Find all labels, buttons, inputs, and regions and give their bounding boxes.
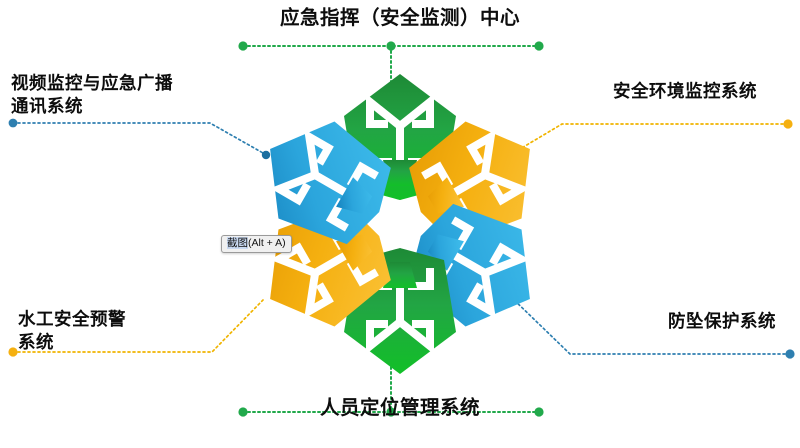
diagram-canvas: 应急指挥（安全监测）中心 视频监控与应急广播 通讯系统 安全环境监控系统 水工安… xyxy=(0,0,800,448)
label-bottom-right: 防坠保护系统 xyxy=(668,310,776,333)
petal-diagram xyxy=(232,48,568,400)
connector-top-left xyxy=(9,119,271,160)
screenshot-tooltip: 截图(Alt + A) xyxy=(221,235,292,253)
label-bottom: 人员定位管理系统 xyxy=(0,396,800,422)
label-bottom-left: 水工安全预警 系统 xyxy=(18,308,126,354)
label-top-left: 视频监控与应急广播 通讯系统 xyxy=(11,72,173,118)
tooltip-label-selected: 截图 xyxy=(227,237,248,249)
label-top-right: 安全环境监控系统 xyxy=(613,80,757,103)
label-top: 应急指挥（安全监测）中心 xyxy=(0,6,800,32)
tooltip-label-shortcut: (Alt + A) xyxy=(248,237,286,249)
